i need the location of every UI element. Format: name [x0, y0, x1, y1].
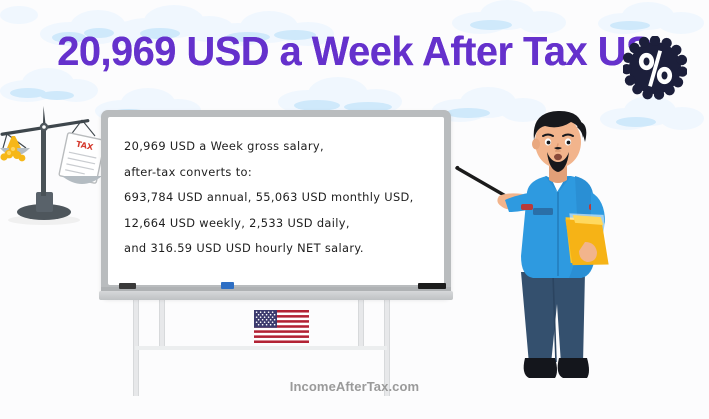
stand-leg-inner-right — [358, 296, 364, 348]
balance-scale-illustration: TAX — [0, 102, 108, 230]
black-marker-icon — [418, 283, 446, 289]
stand-leg-inner-left — [159, 296, 165, 348]
whiteboard-surface: 20,969 USD a Week gross salary, after-ta… — [108, 117, 444, 285]
percent-badge-icon — [623, 36, 687, 100]
stand-crossbar — [135, 346, 387, 350]
teacher-presenter-illustration — [455, 96, 655, 396]
whiteboard-line-1: 20,969 USD a Week gross salary, — [124, 134, 436, 160]
page-title: 20,969 USD a Week After Tax US — [0, 21, 709, 81]
page-title-text: 20,969 USD a Week After Tax US — [57, 29, 652, 74]
eraser-icon — [119, 283, 136, 289]
whiteboard: 20,969 USD a Week gross salary, after-ta… — [101, 110, 451, 298]
whiteboard-line-4: 12,664 USD weekly, 2,533 USD daily, — [124, 211, 436, 237]
cloud-icon — [278, 76, 406, 114]
infographic-canvas: 20,969 USD a Week After Tax US — [0, 0, 709, 419]
whiteboard-line-5: and 316.59 USD USD hourly NET salary. — [124, 236, 436, 262]
whiteboard-line-3: 693,784 USD annual, 55,063 USD monthly U… — [124, 185, 436, 211]
whiteboard-ledge — [99, 291, 453, 300]
site-name: IncomeAfterTax.com — [290, 379, 419, 394]
blue-marker-icon — [221, 282, 234, 289]
us-flag-icon — [254, 310, 309, 343]
whiteboard-text: 20,969 USD a Week gross salary, after-ta… — [124, 134, 436, 262]
whiteboard-line-2: after-tax converts to: — [124, 160, 436, 186]
footer: IncomeAfterTax.com — [0, 378, 709, 396]
